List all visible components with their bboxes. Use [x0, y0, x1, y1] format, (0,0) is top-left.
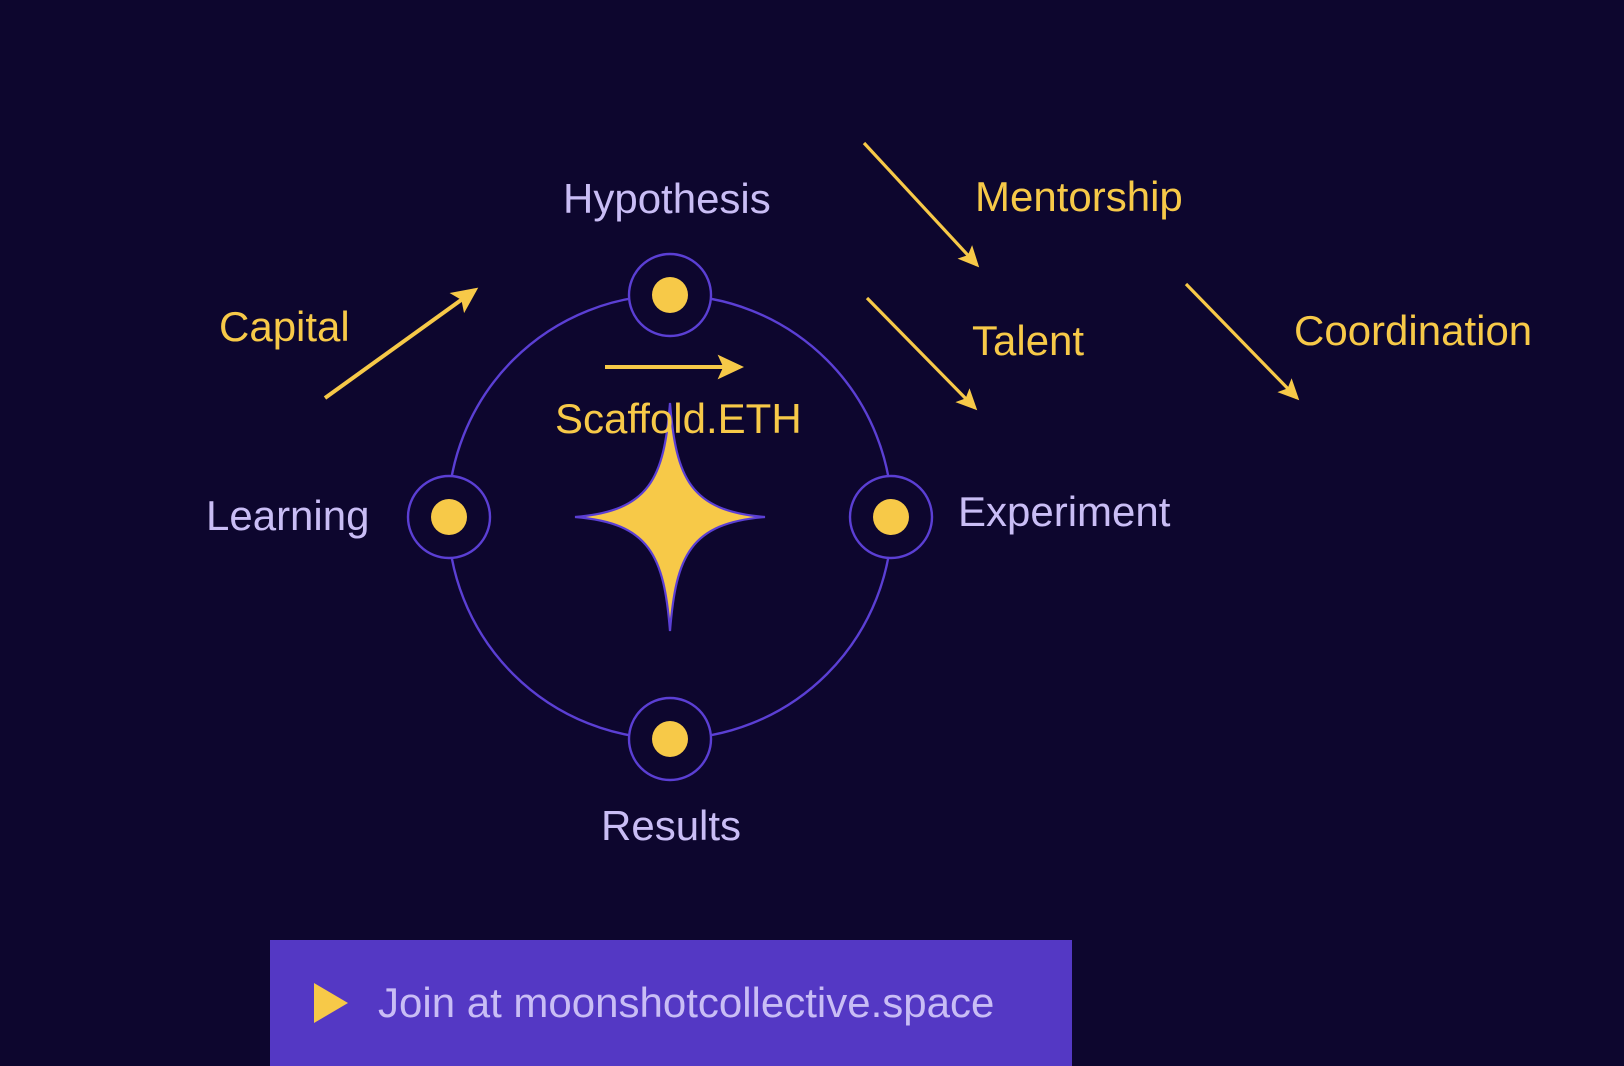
diagram-canvas: Hypothesis Experiment Results Learning C… — [0, 0, 1624, 1066]
play-triangle-icon — [314, 983, 348, 1023]
node-experiment[interactable] — [850, 476, 932, 558]
node-learning[interactable] — [408, 476, 490, 558]
coordination-arrow — [1186, 284, 1297, 398]
node-hypothesis[interactable] — [629, 254, 711, 336]
node-learning-dot — [431, 499, 467, 535]
center-label-scaffold-eth: Scaffold.ETH — [555, 398, 802, 440]
input-label-capital: Capital — [219, 306, 350, 348]
join-cta-button[interactable]: Join at moonshotcollective.space — [270, 940, 1072, 1066]
input-label-mentorship: Mentorship — [975, 176, 1183, 218]
node-label-experiment: Experiment — [958, 491, 1170, 533]
node-label-learning: Learning — [206, 495, 369, 537]
node-label-results: Results — [601, 805, 741, 847]
input-label-talent: Talent — [972, 320, 1084, 362]
node-results[interactable] — [629, 698, 711, 780]
talent-arrow — [867, 298, 975, 408]
node-hypothesis-dot — [652, 277, 688, 313]
node-experiment-dot — [873, 499, 909, 535]
input-label-coordination: Coordination — [1294, 310, 1532, 352]
join-cta-label: Join at moonshotcollective.space — [378, 982, 994, 1024]
mentorship-arrow — [864, 143, 977, 265]
node-label-hypothesis: Hypothesis — [563, 178, 771, 220]
node-results-dot — [652, 721, 688, 757]
